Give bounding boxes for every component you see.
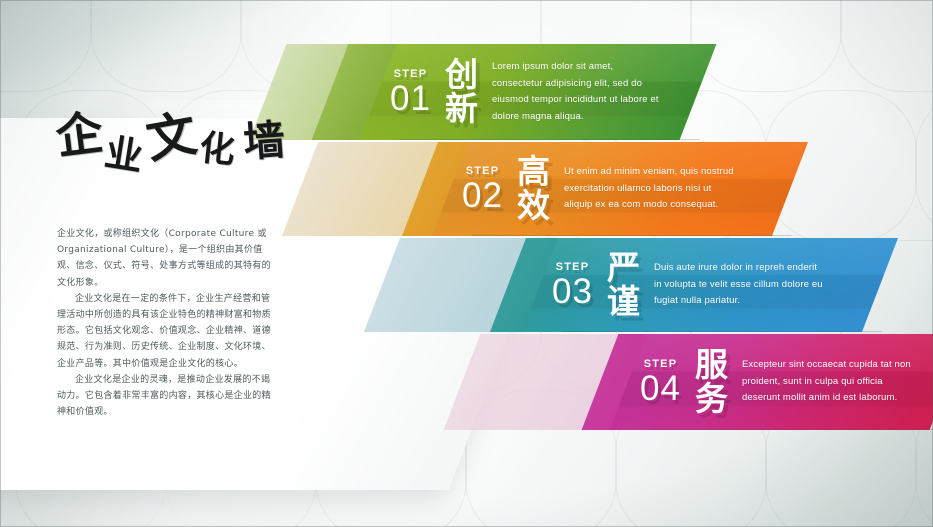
step-heading-char: 服 [695,348,728,382]
band-content-02: STEP 02 高 效 Ut enim ad minim veniam, qui… [462,142,736,236]
step-heading-char: 谨 [607,285,640,319]
step-label-01: STEP [390,69,431,80]
band-content-04: STEP 04 服 务 Excepteur sint occaecat cupi… [640,334,914,430]
step-number-04: 04 [640,371,681,406]
title-char: 文 [143,109,202,166]
step-marker-03: STEP 03 [552,262,593,309]
step-marker-04: STEP 04 [640,359,681,406]
band-content-01: STEP 01 创 新 Lorem ipsum dolor sit amet, … [390,44,664,140]
body-paragraph-2: 企业文化是在一定的条件下，企业生产经营和管理活动中所创造的具有该企业特色的精神财… [57,291,279,372]
step-heading-02: 高 效 [517,155,550,222]
title-char: 企 [53,110,107,162]
title-char: 墙 [242,120,288,164]
step-label-03: STEP [552,262,593,273]
step-heading-char: 创 [445,58,478,92]
step-heading-char: 务 [695,382,728,416]
step-heading-char: 严 [607,251,640,285]
step-label-02: STEP [462,166,503,177]
body-paragraph-3: 企业文化是企业的灵魂，是推动企业发展的不竭动力。它包含着非常丰富的内容，其核心是… [57,372,279,421]
step-heading-char: 新 [445,92,478,126]
poster-title: 企业文化墙 [58,118,318,198]
band-content-03: STEP 03 严 谨 Duis aute irure dolor in rep… [552,238,826,332]
step-body-02: Ut enim ad minim veniam, quis nostrud ex… [564,164,736,214]
poster-canvas: STEP 01 创 新 Lorem ipsum dolor sit amet, … [0,0,933,527]
step-body-01: Lorem ipsum dolor sit amet, consectetur … [492,59,664,125]
step-label-04: STEP [640,359,681,370]
poster-body-copy: 企业文化，或称组织文化（Corporate Culture 或Organizat… [57,226,279,420]
step-marker-02: STEP 02 [462,166,503,213]
poster-title-calligraphy: 企业文化墙 [58,118,318,162]
title-char: 化 [198,131,238,170]
step-heading-03: 严 谨 [607,251,640,318]
step-body-04: Excepteur sint occaecat cupida tat non p… [742,357,914,407]
step-heading-char: 效 [517,189,550,223]
step-heading-char: 高 [517,155,550,189]
title-char: 业 [102,134,147,178]
step-heading-01: 创 新 [445,58,478,125]
body-paragraph-1: 企业文化，或称组织文化（Corporate Culture 或Organizat… [57,226,279,291]
step-number-03: 03 [552,274,593,309]
step-marker-01: STEP 01 [390,69,431,116]
step-heading-04: 服 务 [695,348,728,415]
step-number-02: 02 [462,178,503,213]
step-body-03: Duis aute irure dolor in repreh enderit … [654,260,826,310]
step-number-01: 01 [390,81,431,116]
